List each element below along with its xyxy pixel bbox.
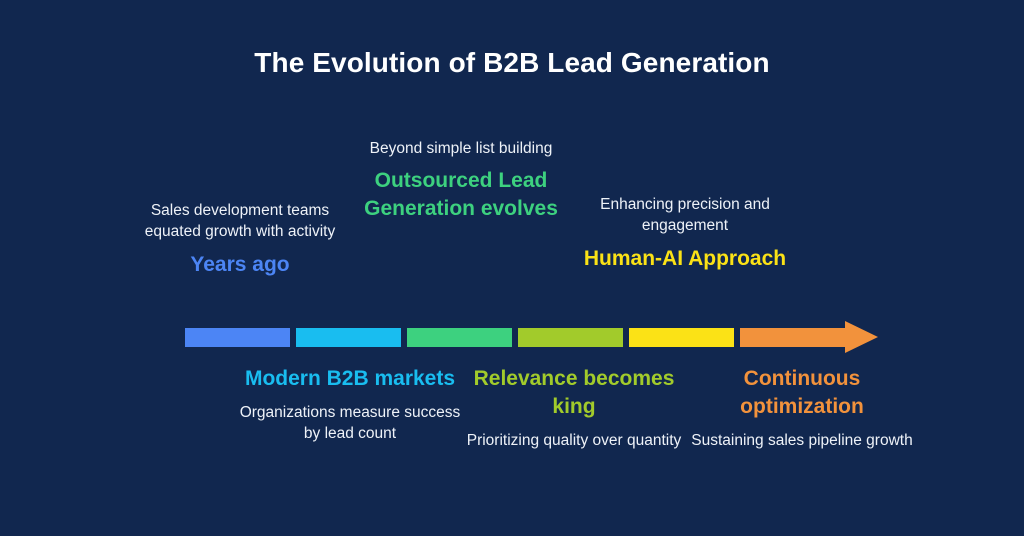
- page-title: The Evolution of B2B Lead Generation: [0, 47, 1024, 79]
- stage-modern-b2b-markets: Modern B2B marketsOrganizations measure …: [235, 365, 465, 445]
- stage-description-relevance-becomes-king: Prioritizing quality over quantity: [459, 430, 689, 451]
- stage-continuous-optimization: Continuous optimizationSustaining sales …: [687, 365, 917, 451]
- stage-heading-outsourced-lead-generation: Outsourced Lead Generation evolves: [346, 167, 576, 223]
- stage-description-modern-b2b-markets: Organizations measure success by lead co…: [235, 402, 465, 445]
- timeline-bar: [185, 328, 743, 347]
- segment-years-ago: [185, 328, 290, 347]
- stage-heading-years-ago: Years ago: [125, 251, 355, 279]
- stage-heading-continuous-optimization: Continuous optimization: [687, 365, 917, 421]
- timeline-arrow-head-icon: [845, 321, 878, 353]
- stage-description-continuous-optimization: Sustaining sales pipeline growth: [687, 430, 917, 451]
- infographic-canvas: The Evolution of B2B Lead Generation Sal…: [0, 0, 1024, 536]
- segment-modern-b2b: [296, 328, 401, 347]
- segment-outsourced: [407, 328, 512, 347]
- stage-heading-modern-b2b-markets: Modern B2B markets: [235, 365, 465, 393]
- stage-human-ai-approach: Enhancing precision and engagementHuman-…: [570, 194, 800, 273]
- stage-description-human-ai-approach: Enhancing precision and engagement: [570, 194, 800, 237]
- segment-continuous: [740, 328, 845, 347]
- stage-years-ago: Sales development teams equated growth w…: [125, 200, 355, 279]
- segment-human-ai: [629, 328, 734, 347]
- stage-description-outsourced-lead-generation: Beyond simple list building: [346, 138, 576, 159]
- stage-heading-relevance-becomes-king: Relevance becomes king: [459, 365, 689, 421]
- stage-description-years-ago: Sales development teams equated growth w…: [125, 200, 355, 243]
- stage-heading-human-ai-approach: Human-AI Approach: [570, 245, 800, 273]
- stage-relevance-becomes-king: Relevance becomes kingPrioritizing quali…: [459, 365, 689, 451]
- stage-outsourced-lead-generation: Beyond simple list buildingOutsourced Le…: [346, 138, 576, 223]
- segment-relevance: [518, 328, 623, 347]
